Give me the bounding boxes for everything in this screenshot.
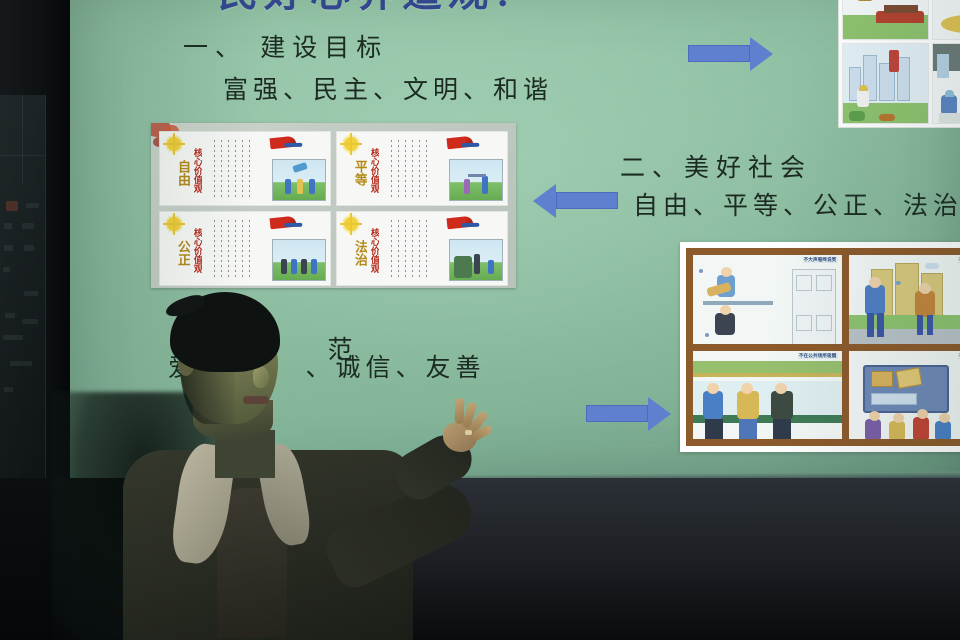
core-value-word: 公正 xyxy=(166,240,190,266)
etiquette-caption: 不大声喧哗说笑 xyxy=(803,257,838,263)
slide-section-one-heading: 一、 建设目标 xyxy=(183,28,388,64)
core-values-poster-grid: 自由 核心价值观 平等 核心价值观 xyxy=(151,123,516,288)
vertical-text-lines xyxy=(212,138,258,201)
etiquette-pane: 不在公共场所吸烟 xyxy=(693,351,842,440)
illustration-thumb xyxy=(449,239,503,281)
core-value-word: 自由 xyxy=(166,160,190,186)
flag-icon xyxy=(269,216,296,230)
illustration-pane xyxy=(932,43,960,125)
sun-icon xyxy=(167,137,181,151)
illustration-thumb xyxy=(272,239,326,281)
illustration-pane xyxy=(842,0,929,40)
sun-icon xyxy=(344,137,358,151)
vertical-text-lines xyxy=(389,138,435,201)
presenter-mouth xyxy=(243,396,269,404)
vertical-text-lines xyxy=(212,218,258,281)
presenter xyxy=(95,292,495,640)
core-value-red-text: 核心价值观 xyxy=(369,148,379,193)
illustration-pane xyxy=(932,0,960,40)
presenter-pointing-hand xyxy=(435,408,489,454)
illustration-thumb xyxy=(272,159,326,201)
core-value-word: 平等 xyxy=(343,160,367,186)
slide-section-one-values: 富强、民主、文明、和谐 xyxy=(223,70,553,106)
illustration-pane xyxy=(842,43,929,125)
core-value-card: 法治 核心价值观 xyxy=(336,211,508,286)
flag-icon xyxy=(446,136,473,150)
classroom-scene: 民好心界道观? 一、 建设目标 富强、民主、文明、和谐 二、美好社会 自由、平等… xyxy=(0,0,960,640)
core-value-red-text: 核心价值观 xyxy=(192,228,202,273)
slide-section-two-heading: 二、美好社会 xyxy=(620,148,812,184)
vertical-text-lines xyxy=(389,218,435,281)
core-value-red-text: 核心价值观 xyxy=(369,228,379,273)
etiquette-pane: 不大声喧哗说笑 xyxy=(693,255,842,344)
etiquette-pane: 不乱贴乱涂乱写 xyxy=(849,351,960,440)
slide-section-two-values: 自由、平等、公正、法治 xyxy=(633,186,960,222)
core-value-card: 公正 核心价值观 xyxy=(159,211,331,286)
core-value-red-text: 核心价值观 xyxy=(192,148,202,193)
etiquette-illustration-panel: 不大声喧哗说笑 不随地乱丢果皮 xyxy=(680,242,960,452)
presenter-ring xyxy=(465,430,472,435)
top-right-illustration-panel xyxy=(838,0,960,128)
etiquette-pane: 不随地乱丢果皮 xyxy=(849,255,960,344)
flag-icon xyxy=(446,216,473,230)
flag-icon xyxy=(269,136,296,150)
wall-poster xyxy=(0,95,46,480)
core-value-word: 法治 xyxy=(343,240,367,266)
etiquette-caption: 不在公共场所吸烟 xyxy=(798,353,838,359)
sun-icon xyxy=(344,217,358,231)
sun-icon xyxy=(167,217,181,231)
illustration-thumb xyxy=(449,159,503,201)
core-value-card: 平等 核心价值观 xyxy=(336,131,508,206)
presenter-nose xyxy=(253,366,269,388)
core-value-card: 自由 核心价值观 xyxy=(159,131,331,206)
slide-title: 民好心界道观? xyxy=(218,0,520,18)
